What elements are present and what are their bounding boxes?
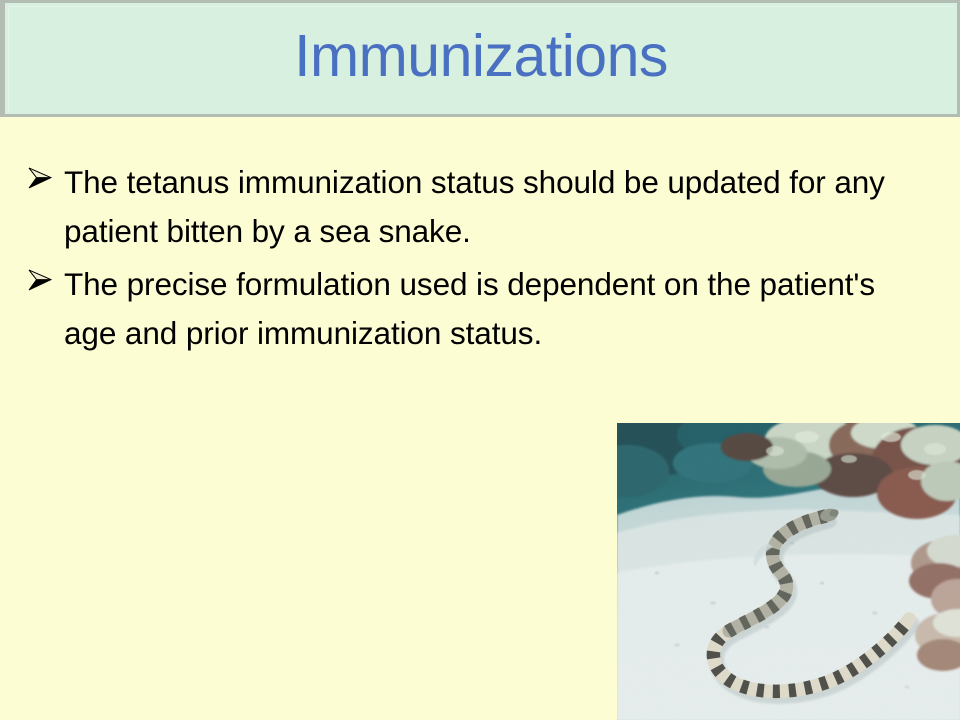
slide-canvas: Immunizations The tetanus immunization s… <box>0 0 960 720</box>
arrowhead-bullet-icon <box>26 260 64 294</box>
list-item-label: The tetanus immunization status should b… <box>64 158 919 256</box>
slide-body: The tetanus immunization status should b… <box>26 158 926 362</box>
page-title: Immunizations <box>294 27 668 86</box>
arrowhead-bullet-icon <box>26 158 64 192</box>
sea-snake-photo <box>617 423 960 720</box>
list-item-label: The precise formulation used is dependen… <box>64 260 919 358</box>
slide-title-band: Immunizations <box>0 0 960 117</box>
list-item: The precise formulation used is dependen… <box>26 260 926 358</box>
list-item: The tetanus immunization status should b… <box>26 158 926 256</box>
